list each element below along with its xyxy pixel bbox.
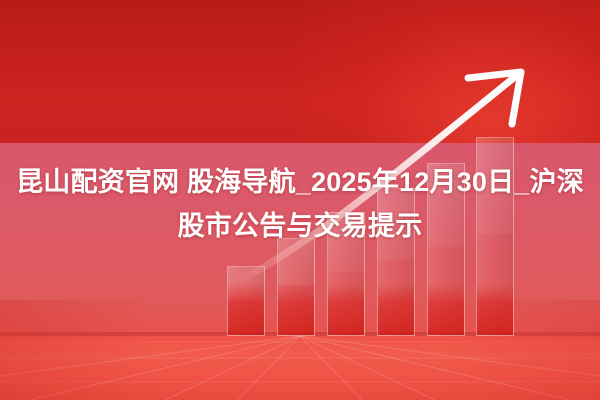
page-title: 昆山配资官网 股海导航_2025年12月30日_沪深股市公告与交易提示 — [0, 160, 600, 248]
chart-bar — [277, 238, 315, 336]
promo-banner: 昆山配资官网 股海导航_2025年12月30日_沪深股市公告与交易提示 — [0, 0, 600, 400]
chart-bar — [227, 266, 265, 336]
